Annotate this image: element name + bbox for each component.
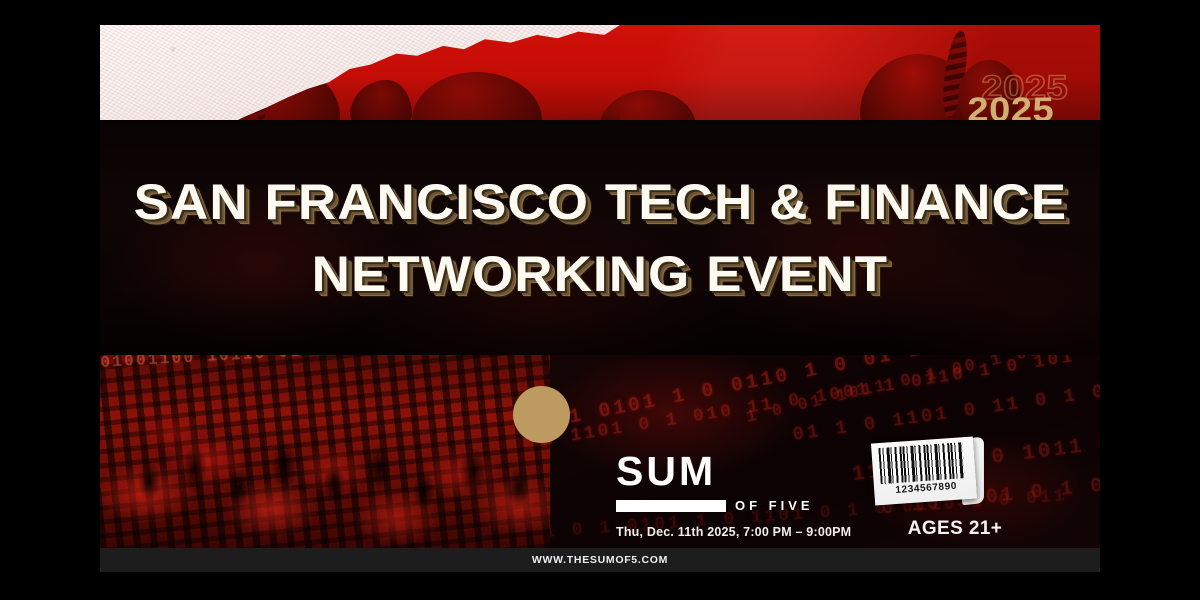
top-banner: 2025 2025 bbox=[100, 25, 1100, 120]
website-url: WWW.THESUMOF5.COM bbox=[532, 554, 668, 566]
title-group: SAN FRANCISCO TECH & FINANCE NETWORKING … bbox=[100, 120, 1100, 355]
crowd-photo: 01001100 10110 01 1000110 0 1011 0100 11… bbox=[100, 355, 550, 548]
brand-bar bbox=[616, 500, 726, 512]
event-poster: 2025 2025 SAN FRANCISCO TECH & FINANCE N… bbox=[100, 25, 1100, 572]
ticket-info-block: 1234567890 AGES 21+ bbox=[870, 440, 1040, 548]
brand-name: SUM bbox=[615, 450, 815, 492]
gold-circle-accent bbox=[513, 386, 570, 443]
footer-bar: WWW.THESUMOF5.COM bbox=[100, 548, 1100, 572]
year-solid-text: 2025 bbox=[968, 91, 1055, 120]
title-band: SAN FRANCISCO TECH & FINANCE NETWORKING … bbox=[100, 120, 1100, 355]
year-badge: 2025 2025 bbox=[926, 69, 1056, 120]
brand-tagline: OF FIVE bbox=[735, 498, 814, 513]
event-title-line-2: NETWORKING EVENT bbox=[312, 250, 888, 298]
event-datetime: Thu, Dec. 11th 2025, 7:00 PM – 9:00PM bbox=[615, 525, 815, 539]
barcode-icon bbox=[878, 442, 964, 484]
poster-stage: 2025 2025 SAN FRANCISCO TECH & FINANCE N… bbox=[0, 0, 1200, 600]
event-title-line-1: SAN FRANCISCO TECH & FINANCE bbox=[133, 178, 1067, 226]
age-restriction: AGES 21+ bbox=[870, 518, 1040, 540]
barcode-sticker: 1234567890 bbox=[871, 437, 977, 506]
crowd-silhouettes bbox=[100, 389, 550, 548]
lower-section: 01001100 10110 01 1000110 0 1011 0100 11… bbox=[100, 355, 1100, 548]
brand-tagline-row: OF FIVE bbox=[615, 498, 815, 513]
brand-logo-block: SUM OF FIVE Thu, Dec. 11th 2025, 7:00 PM… bbox=[615, 450, 815, 540]
